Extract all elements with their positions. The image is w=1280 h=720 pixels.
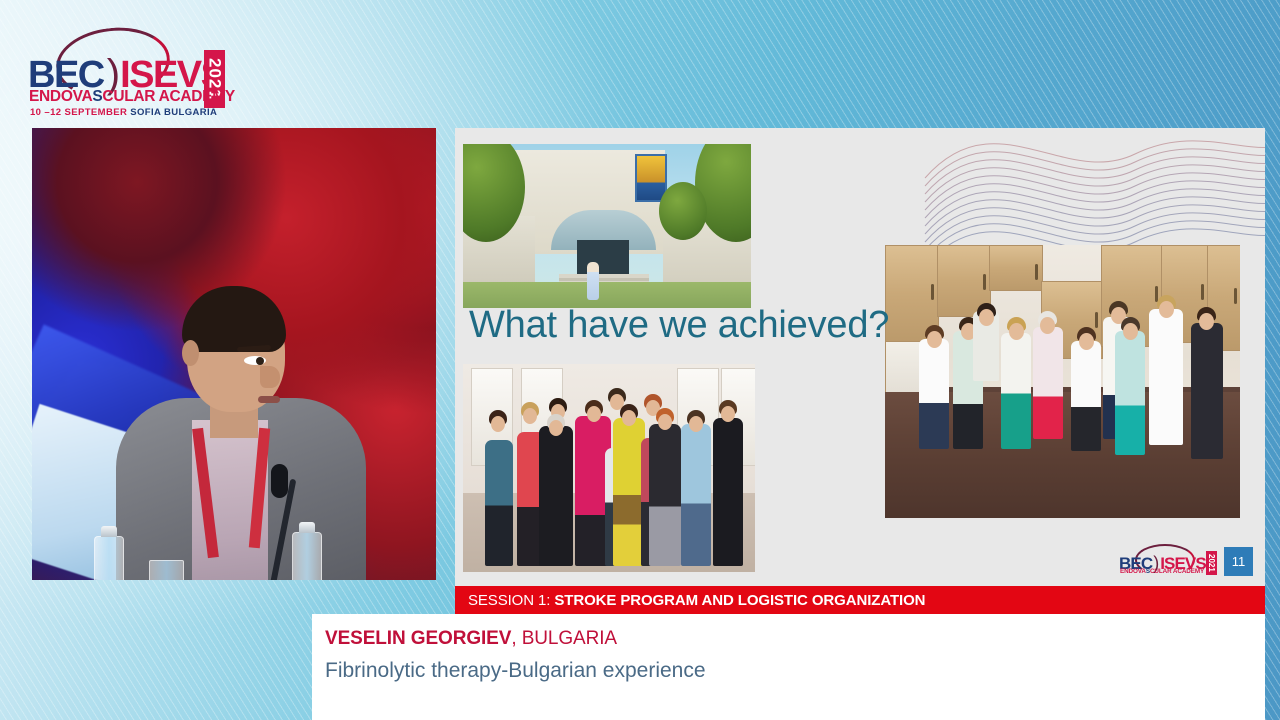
slide-footer-logo: BEC ) ISEVS 2021 ENDOVASCULAR ACADEMY	[1119, 546, 1217, 576]
conference-logo: BEC ) ISEVS 2021 ENDOVASCULAR ACADEMY 10…	[28, 28, 223, 110]
women-group-photo	[463, 364, 755, 572]
water-bottle-left	[94, 536, 124, 580]
logo-subtitle-accent: S	[92, 88, 102, 105]
photo-building-entrance	[577, 240, 629, 276]
photo-staff-head	[1123, 323, 1138, 340]
photo-staff-member	[1149, 309, 1183, 445]
slide-page-number: 11	[1224, 547, 1253, 576]
photo-person	[649, 424, 681, 566]
presentation-slide[interactable]: What have we achieved? BEC ) ISEVS 2021 …	[455, 128, 1265, 586]
speaker-country: , BULGARIA	[511, 628, 617, 649]
photo-staff-head	[1079, 333, 1094, 350]
microphone-head-icon	[271, 464, 288, 498]
photo-person-head	[658, 414, 672, 430]
photo-staff-member	[1115, 331, 1145, 455]
water-glass	[149, 560, 184, 580]
logo-subtitle-pre: ENDOVA	[29, 88, 92, 105]
photo-person-head	[549, 420, 563, 436]
photo-staff-head	[1009, 323, 1024, 340]
slide-footer: BEC ) ISEVS 2021 ENDOVASCULAR ACADEMY 11	[1119, 546, 1253, 576]
slide-footer-subtitle-pre: ENDOVA	[1120, 568, 1146, 575]
water-bottle-right	[292, 532, 322, 580]
photo-person-head	[622, 410, 636, 426]
session-banner: SESSION 1: STROKE PROGRAM AND LOGISTIC O…	[455, 586, 1265, 614]
speaker-pupil	[256, 357, 264, 365]
photo-person-head	[523, 408, 537, 424]
photo-person	[539, 426, 573, 566]
photo-person-head	[689, 416, 703, 432]
logo-date-line: 10 –12 SEPTEMBER SOFIA BULGARIA	[30, 107, 217, 118]
logo-subtitle: ENDOVASCULAR ACADEMY	[29, 88, 235, 106]
speaker-topic: Fibrinolytic therapy-Bulgarian experienc…	[325, 659, 1265, 683]
photo-staff-head	[1159, 301, 1174, 318]
medical-staff-photo	[885, 245, 1240, 518]
photo-person-head	[587, 406, 601, 422]
speaker-nose	[260, 366, 280, 388]
bottle-cap	[299, 522, 315, 533]
session-label: SESSION 1:	[468, 592, 550, 609]
speaker-caption-bar: VESELIN GEORGIEV, BULGARIA Fibrinolytic …	[312, 614, 1265, 720]
speaker-video-feed[interactable]: BEC ISEVS BEC ) ISEVS 2021 ENDOVASCULAR …	[32, 128, 436, 580]
logo-date-text: 10 –12 SEPTEMBER	[30, 107, 130, 118]
logo-subtitle-post: CULAR ACADEMY	[102, 88, 234, 105]
photo-cabinet	[989, 245, 1043, 291]
speaker-mouth	[258, 396, 280, 403]
photo-person	[485, 440, 513, 566]
photo-person-head	[491, 416, 505, 432]
photo-staff-head	[979, 309, 994, 326]
photo-person	[681, 424, 711, 566]
presentation-stage: BEC ) ISEVS 2021 ENDOVASCULAR ACADEMY 10…	[0, 0, 1280, 720]
photo-staff-member	[919, 339, 949, 449]
photo-person-head	[721, 406, 735, 422]
photo-staff-member	[1001, 333, 1031, 449]
slide-footer-year: 2021	[1206, 551, 1217, 575]
photo-staff-member	[1033, 327, 1063, 439]
photo-person	[587, 262, 599, 300]
photo-staff-head	[1040, 317, 1055, 334]
photo-staff-member	[1191, 323, 1223, 459]
slide-footer-subtitle: ENDOVASCULAR ACADEMY	[1120, 568, 1204, 575]
photo-staff-member	[1071, 341, 1101, 451]
slide-footer-subtitle-post: CULAR ACADEMY	[1150, 568, 1204, 575]
speaker-ear	[182, 340, 199, 366]
hospital-building-photo	[463, 144, 751, 308]
photo-tree-mid	[659, 182, 707, 240]
photo-staff-head	[1199, 313, 1214, 330]
session-title: STROKE PROGRAM AND LOGISTIC ORGANIZATION	[554, 592, 925, 609]
logo-city-text: SOFIA BULGARIA	[130, 107, 217, 118]
speaker-name: VESELIN GEORGIEV	[325, 628, 511, 649]
photo-person	[713, 418, 743, 566]
photo-staff-head	[927, 331, 942, 348]
slide-title: What have we achieved?	[469, 304, 889, 347]
speaker-name-line: VESELIN GEORGIEV, BULGARIA	[325, 628, 1265, 650]
bottle-cap	[101, 526, 117, 537]
